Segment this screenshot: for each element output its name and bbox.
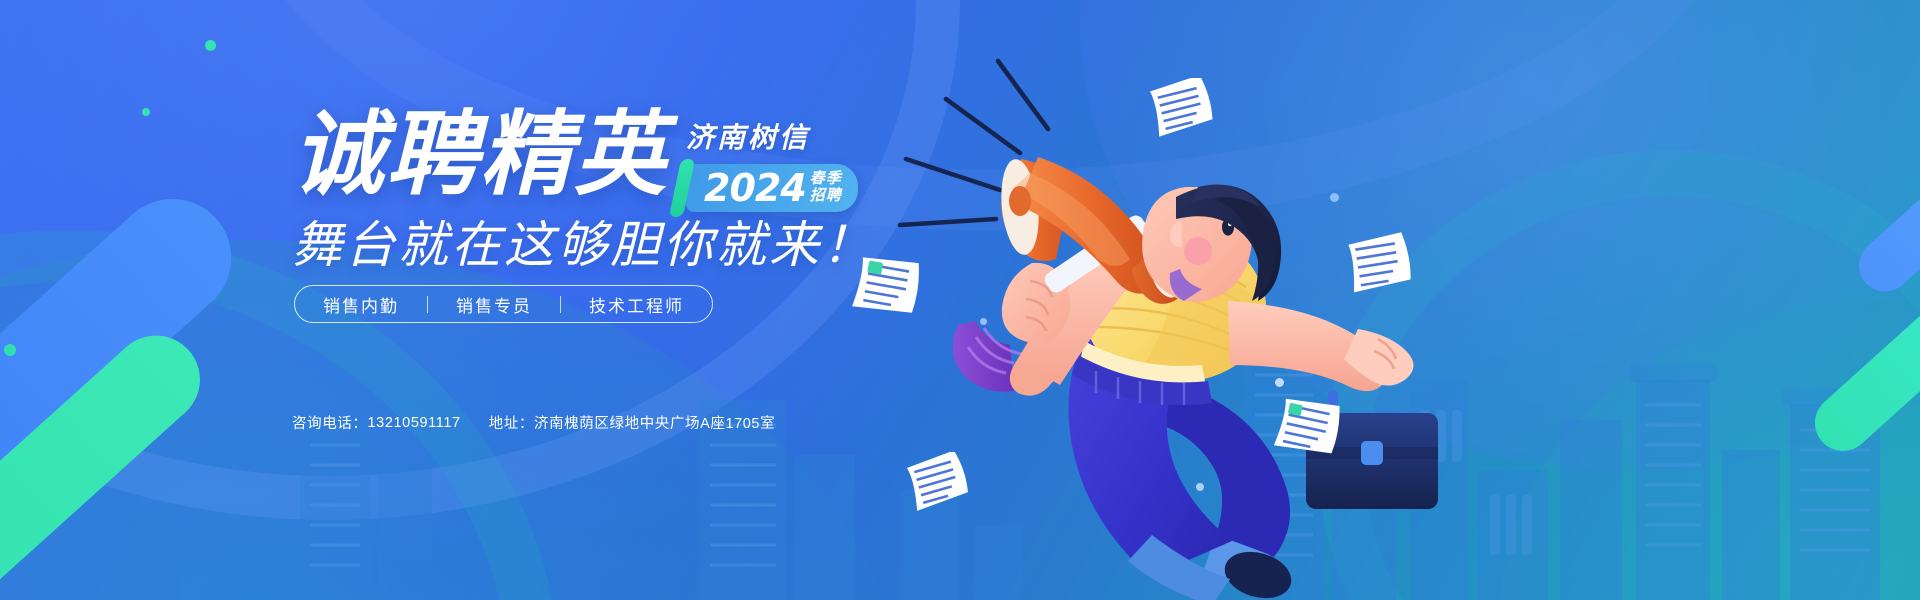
badge-season-line2: 招聘 bbox=[810, 188, 842, 204]
position-divider-1 bbox=[427, 296, 428, 313]
resume-paper-icon-3 bbox=[1340, 232, 1420, 298]
position-item-2[interactable]: 销售专员 bbox=[454, 292, 534, 317]
page-title: 诚聘精英 bbox=[292, 108, 668, 202]
headline-row: 诚聘精英 济南树信 2024 春季 招聘 bbox=[292, 108, 858, 212]
position-list: 销售内勤 销售专员 技术工程师 bbox=[294, 285, 713, 323]
contact-info: 咨询电话： 13210591117 地址： 济南槐荫区绿地中央广场A座1705室 bbox=[292, 412, 775, 433]
character-right-arm bbox=[1228, 301, 1414, 391]
badge-stack: 济南树信 2024 春季 招聘 bbox=[686, 108, 858, 212]
position-divider-2 bbox=[560, 296, 561, 313]
badge-season: 春季 招聘 bbox=[810, 171, 842, 203]
recruitment-banner: 诚聘精英 济南树信 2024 春季 招聘 舞台就在这够胆你就来！ 销售内勤 销售… bbox=[0, 0, 1920, 600]
badge-year: 2024 bbox=[704, 169, 806, 207]
address-label: 地址： bbox=[489, 412, 534, 433]
badge-season-line1: 春季 bbox=[810, 171, 842, 187]
tagline: 舞台就在这够胆你就来！ bbox=[292, 205, 875, 277]
position-item-3[interactable]: 技术工程师 bbox=[587, 292, 686, 317]
address-value: 济南槐荫区绿地中央广场A座1705室 bbox=[534, 412, 775, 433]
phone-value: 13210591117 bbox=[368, 415, 461, 431]
banner-content: 诚聘精英 济南树信 2024 春季 招聘 舞台就在这够胆你就来！ 销售内勤 销售… bbox=[0, 0, 1000, 600]
phone-label: 咨询电话： bbox=[292, 412, 368, 433]
company-name: 济南树信 bbox=[686, 116, 858, 156]
position-item-1[interactable]: 销售内勤 bbox=[321, 292, 401, 317]
resume-paper-icon-1 bbox=[1145, 78, 1221, 138]
resume-paper-icon-4 bbox=[1268, 396, 1348, 462]
character-head bbox=[1142, 185, 1281, 303]
